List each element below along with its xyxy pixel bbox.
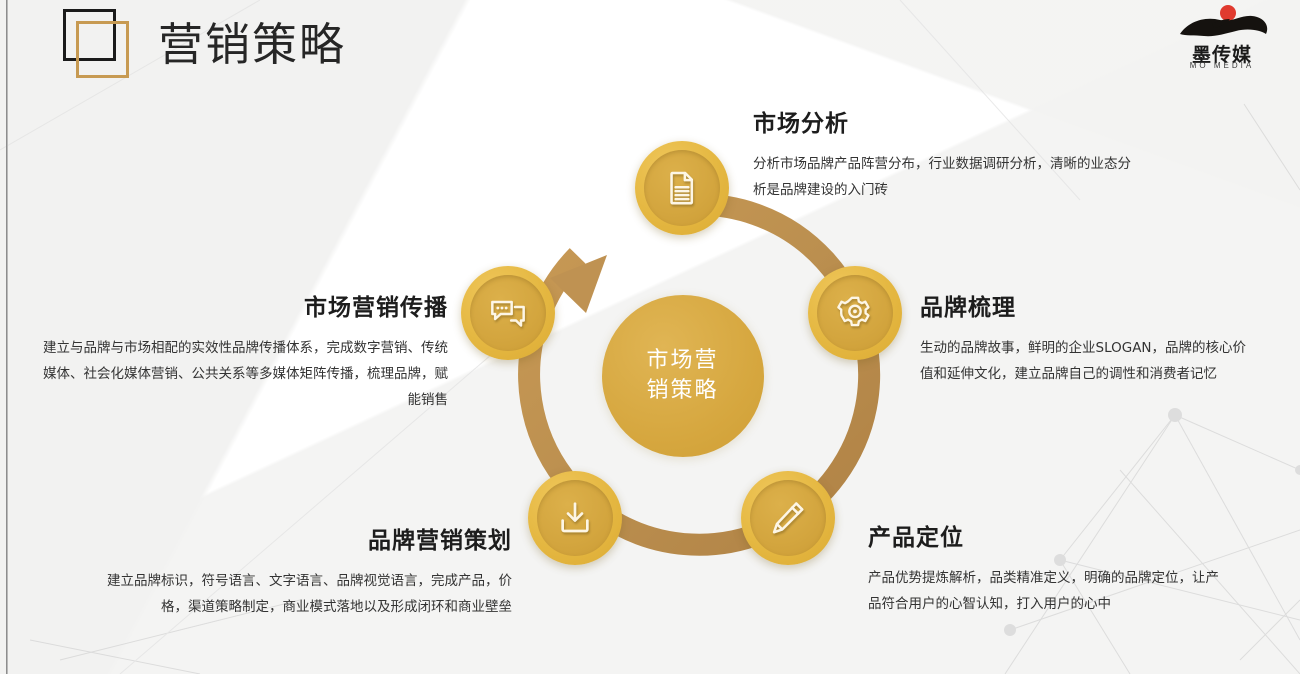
cycle-node-market-analysis[interactable] xyxy=(635,141,729,235)
section-body-marketing-communication: 建立与品牌与市场相配的实效性品牌传播体系，完成数字营销、传统媒体、社会化媒体营销… xyxy=(30,335,448,413)
pencil-icon xyxy=(769,499,807,537)
section-title-marketing-communication: 市场营销传播 xyxy=(30,288,448,322)
section-product-positioning: 产品定位 产品优势提炼解析，品类精准定义，明确的品牌定位，让产品符合用户的心智认… xyxy=(868,518,1228,617)
cycle-node-product-positioning[interactable] xyxy=(741,471,835,565)
gear-icon xyxy=(836,294,874,332)
logo-square-gold xyxy=(76,21,129,78)
cycle-diagram: 市场营 销策略 xyxy=(455,148,910,603)
download-inbox-icon xyxy=(556,499,594,537)
hub-label-line2: 销策略 xyxy=(646,376,718,406)
cycle-node-brand-consolidation[interactable] xyxy=(808,266,902,360)
node-inner-ring xyxy=(537,480,613,556)
section-brand-consolidation: 品牌梳理 生动的品牌故事，鲜明的企业SLOGAN，品牌的核心价值和延伸文化，建立… xyxy=(920,288,1250,387)
document-icon xyxy=(663,169,701,207)
chat-bubble-icon xyxy=(488,293,528,333)
slide-canvas: 营销策略 墨传媒 MO MEDIA xyxy=(0,0,1300,674)
section-marketing-communication: 市场营销传播 建立与品牌与市场相配的实效性品牌传播体系，完成数字营销、传统媒体、… xyxy=(30,288,448,413)
section-body-product-positioning: 产品优势提炼解析，品类精准定义，明确的品牌定位，让产品符合用户的心智认知，打入用… xyxy=(868,565,1228,617)
section-title-brand-planning: 品牌营销策划 xyxy=(88,521,512,555)
hub-label-line1: 市场营 xyxy=(646,346,718,376)
node-inner-ring xyxy=(644,150,720,226)
section-title-market-analysis: 市场分析 xyxy=(753,104,1133,138)
section-brand-planning: 品牌营销策划 建立品牌标识，符号语言、文字语言、品牌视觉语言，完成产品，价格，渠… xyxy=(88,521,512,620)
node-inner-ring xyxy=(817,275,893,351)
node-inner-ring xyxy=(750,480,826,556)
section-title-brand-consolidation: 品牌梳理 xyxy=(920,288,1250,322)
section-title-product-positioning: 产品定位 xyxy=(868,518,1228,552)
slide-header: 营销策略 墨传媒 MO MEDIA xyxy=(0,0,1300,96)
overlapping-squares-logo-icon xyxy=(60,5,160,85)
brush-stroke-mark-icon xyxy=(1168,4,1276,44)
cycle-node-marketing-communication[interactable] xyxy=(461,266,555,360)
left-edge-rule-secondary xyxy=(7,0,8,674)
brand-logo: 墨传媒 MO MEDIA xyxy=(1168,4,1276,74)
node-inner-ring xyxy=(470,275,546,351)
page-title: 营销策略 xyxy=(158,8,346,73)
section-body-brand-consolidation: 生动的品牌故事，鲜明的企业SLOGAN，品牌的核心价值和延伸文化，建立品牌自己的… xyxy=(920,335,1250,387)
cycle-center-hub: 市场营 销策略 xyxy=(602,295,764,457)
section-market-analysis: 市场分析 分析市场品牌产品阵营分布，行业数据调研分析，清晰的业态分析是品牌建设的… xyxy=(753,104,1133,203)
brand-name-en: MO MEDIA xyxy=(1168,61,1276,70)
section-body-market-analysis: 分析市场品牌产品阵营分布，行业数据调研分析，清晰的业态分析是品牌建设的入门砖 xyxy=(753,151,1133,203)
section-body-brand-planning: 建立品牌标识，符号语言、文字语言、品牌视觉语言，完成产品，价格，渠道策略制定，商… xyxy=(88,568,512,620)
cycle-node-brand-planning[interactable] xyxy=(528,471,622,565)
